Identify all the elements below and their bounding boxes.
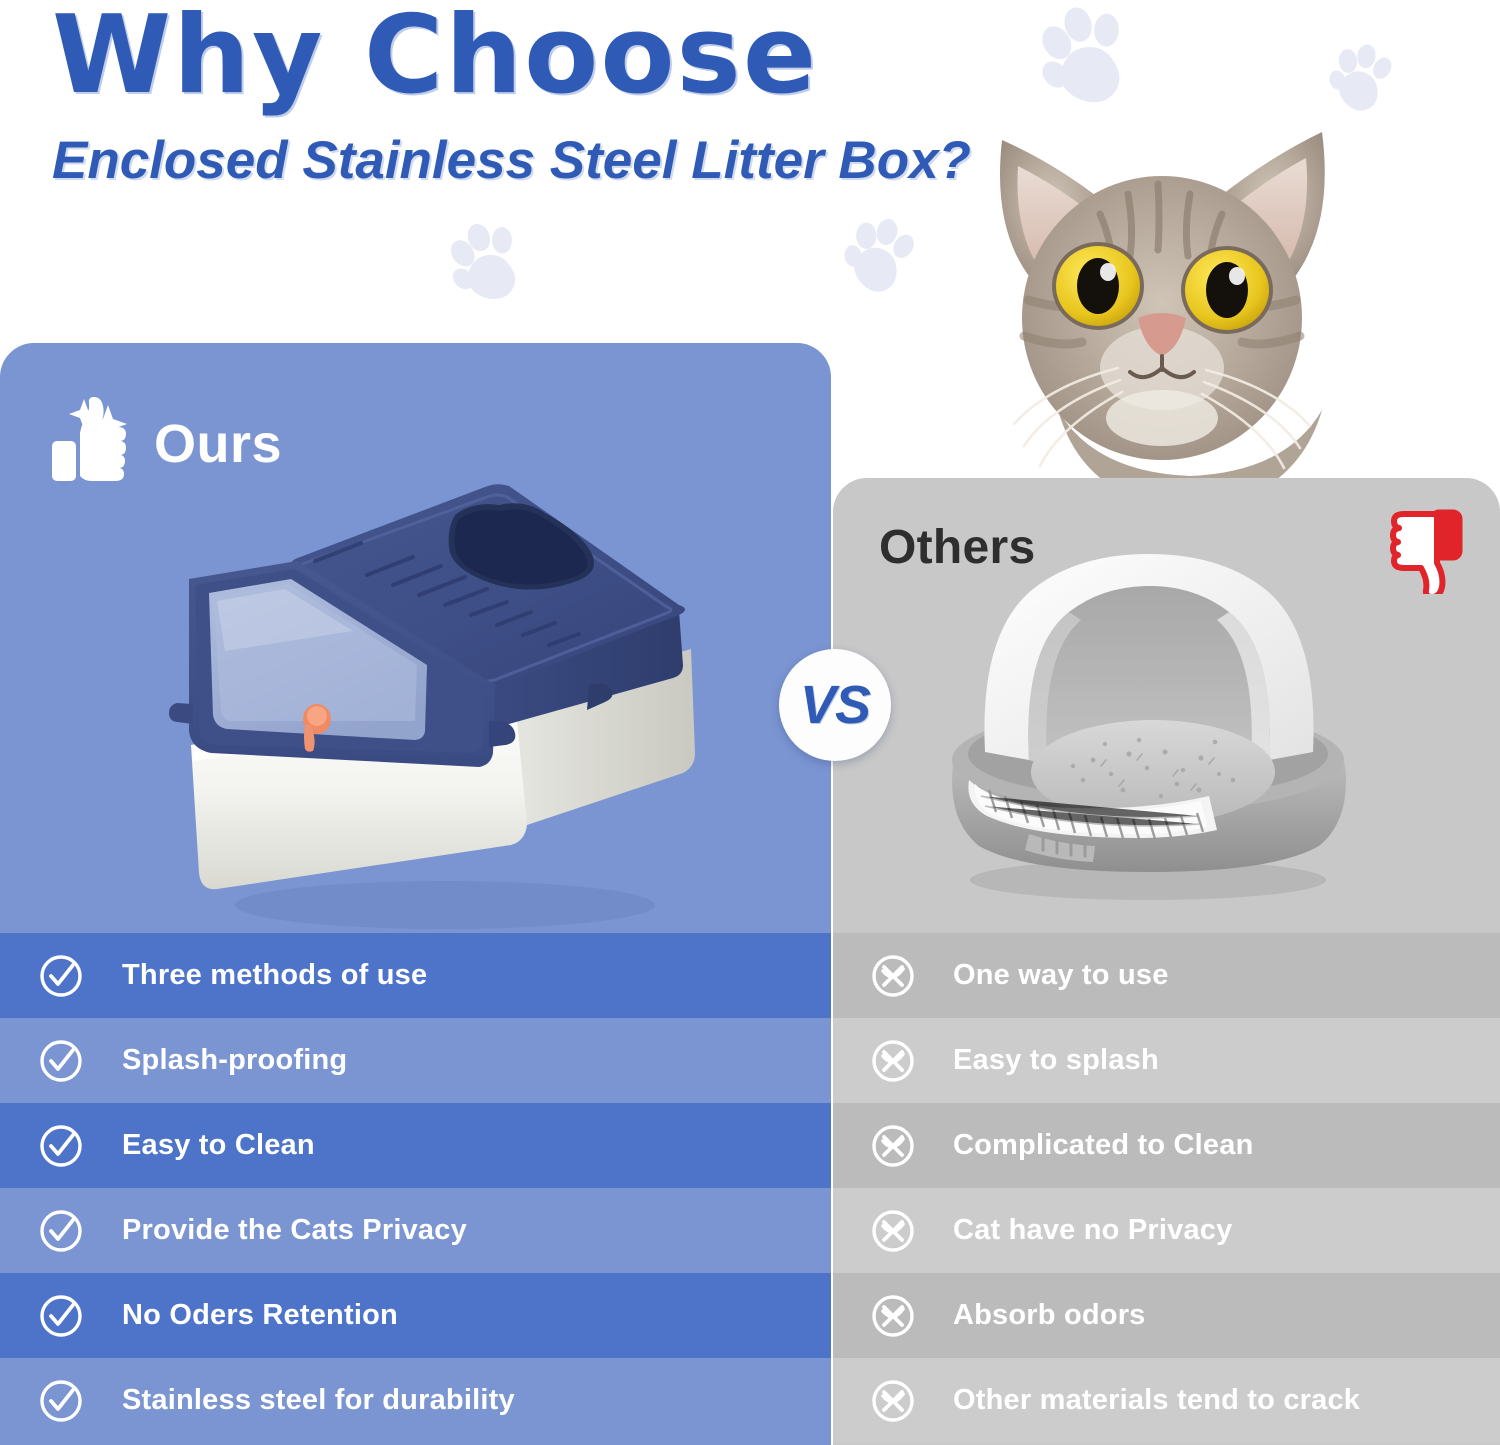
others-feature-row: Absorb odors: [833, 1273, 1500, 1358]
ours-feature-label: Easy to Clean: [122, 1129, 315, 1162]
others-feature-row: Cat have no Privacy: [833, 1188, 1500, 1273]
ours-feature-label: Provide the Cats Privacy: [122, 1214, 467, 1247]
paw-print-icon: [1030, 0, 1144, 117]
circle-check-icon: [0, 1378, 122, 1424]
others-feature-row: One way to use: [833, 933, 1500, 1018]
circle-x-icon: [833, 1123, 953, 1169]
thumbs-down-icon: [1370, 508, 1466, 599]
circle-check-icon: [0, 1038, 122, 1084]
circle-check-icon: [0, 1293, 122, 1339]
ours-feature-row: No Oders Retention: [0, 1273, 831, 1358]
others-feature-list: One way to use Easy to splash Complicate…: [833, 933, 1500, 1443]
ours-product-image: [155, 453, 715, 953]
circle-check-icon: [0, 953, 122, 999]
paw-print-icon: [440, 213, 536, 313]
ours-feature-row: Easy to Clean: [0, 1103, 831, 1188]
ours-panel: Ours: [0, 343, 831, 1445]
others-product-image: [933, 528, 1363, 908]
circle-x-icon: [833, 1038, 953, 1084]
headline-block: Why Choose Enclosed Stainless Steel Litt…: [52, 4, 1012, 192]
others-feature-label: Other materials tend to crack: [953, 1384, 1360, 1417]
ours-feature-label: Stainless steel for durability: [122, 1384, 515, 1417]
others-feature-label: Easy to splash: [953, 1044, 1159, 1077]
circle-x-icon: [833, 1293, 953, 1339]
vs-badge: VS: [779, 649, 891, 761]
cat-photo: [950, 110, 1370, 510]
circle-check-icon: [0, 1208, 122, 1254]
circle-x-icon: [833, 1208, 953, 1254]
ours-feature-label: No Oders Retention: [122, 1299, 398, 1332]
page-subtitle: Enclosed Stainless Steel Litter Box?: [52, 130, 1012, 193]
vs-label: VS: [800, 674, 870, 736]
others-feature-label: Complicated to Clean: [953, 1129, 1254, 1162]
others-feature-label: Cat have no Privacy: [953, 1214, 1232, 1247]
others-feature-label: One way to use: [953, 959, 1169, 992]
circle-x-icon: [833, 1378, 953, 1424]
others-feature-row: Complicated to Clean: [833, 1103, 1500, 1188]
paw-print-icon: [1322, 37, 1401, 120]
ours-feature-label: Splash-proofing: [122, 1044, 347, 1077]
ours-feature-row: Three methods of use: [0, 933, 831, 1018]
ours-feature-list: Three methods of use Splash-proofing Eas…: [0, 933, 831, 1443]
paw-print-icon: [835, 209, 927, 305]
ours-feature-row: Provide the Cats Privacy: [0, 1188, 831, 1273]
others-feature-row: Other materials tend to crack: [833, 1358, 1500, 1443]
ours-feature-row: Stainless steel for durability: [0, 1358, 831, 1443]
others-feature-label: Absorb odors: [953, 1299, 1146, 1332]
page-title: Why Choose: [52, 4, 1012, 108]
ours-feature-label: Three methods of use: [122, 959, 427, 992]
ours-feature-row: Splash-proofing: [0, 1018, 831, 1103]
others-feature-row: Easy to splash: [833, 1018, 1500, 1103]
thumbs-up-sparkle-icon: [44, 395, 136, 492]
others-panel: Others: [833, 478, 1500, 1445]
circle-check-icon: [0, 1123, 122, 1169]
circle-x-icon: [833, 953, 953, 999]
